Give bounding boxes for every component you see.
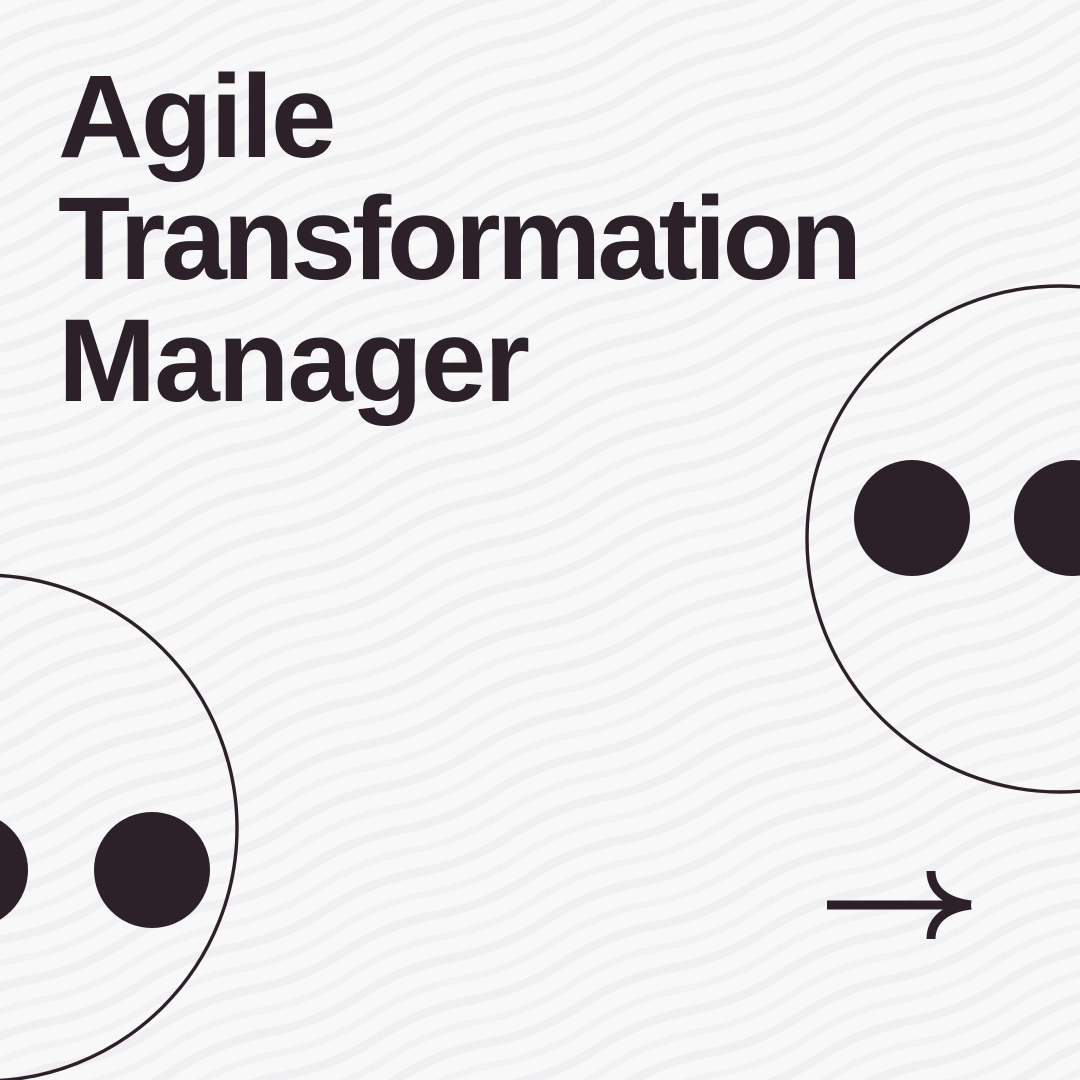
title-line-1: Agile (58, 56, 988, 178)
title-line-3: Manager (58, 300, 988, 422)
poster-canvas: Agile Transformation Manager (0, 0, 1080, 1080)
title-line-2: Transformation (58, 178, 988, 300)
page-title: Agile Transformation Manager (58, 56, 988, 422)
